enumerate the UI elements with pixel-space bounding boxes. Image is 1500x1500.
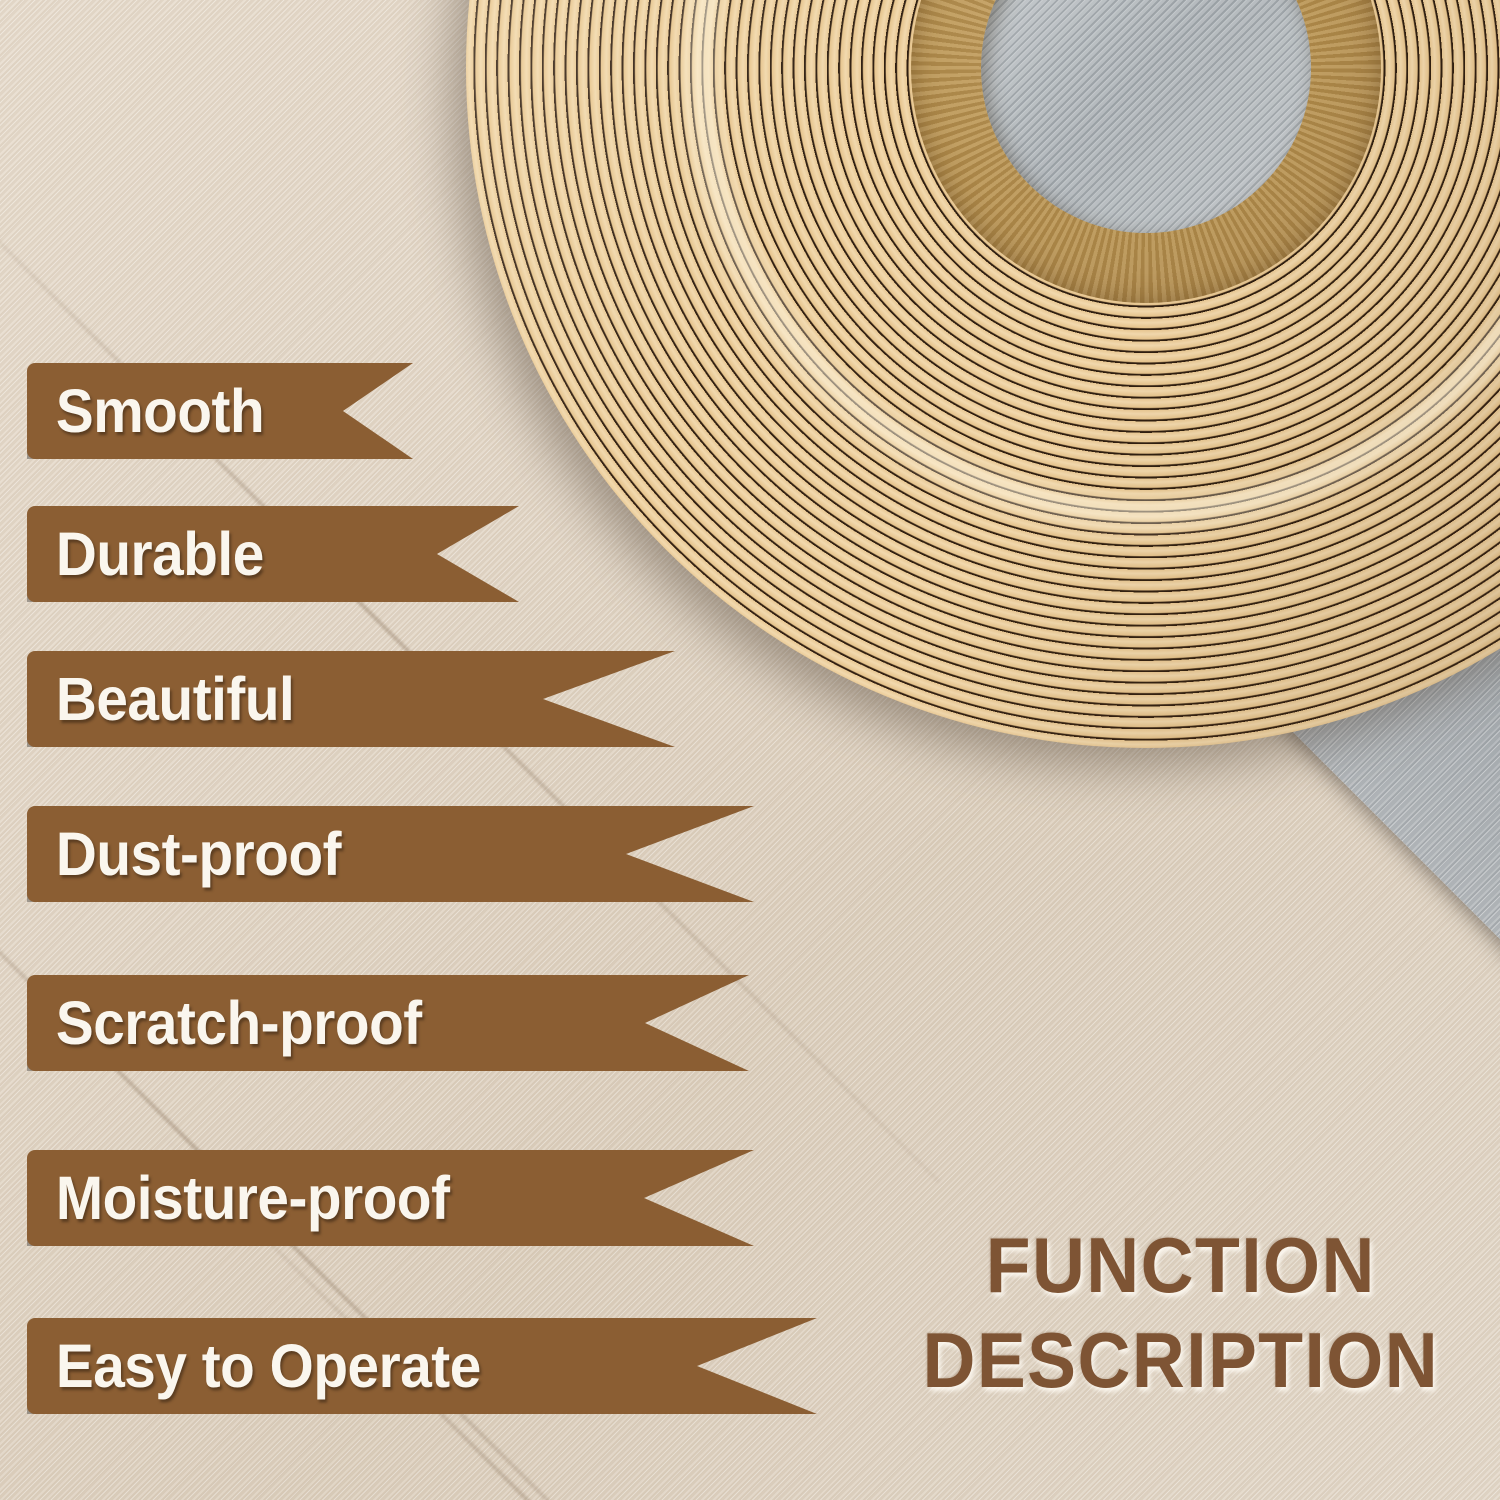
- feature-banner: Moisture-proof: [27, 1150, 754, 1246]
- feature-banner: Smooth: [27, 363, 413, 459]
- feature-banner-label: Moisture-proof: [27, 1168, 450, 1229]
- heading-line-1: FUNCTION: [923, 1218, 1440, 1313]
- feature-banner-list: SmoothDurableBeautifulDust-proofScratch-…: [0, 0, 900, 1500]
- feature-banner-label: Beautiful: [27, 669, 294, 730]
- feature-banner-label: Smooth: [27, 381, 264, 442]
- feature-banner: Beautiful: [27, 651, 675, 747]
- feature-banner: Scratch-proof: [27, 975, 749, 1071]
- heading-line-2: DESCRIPTION: [923, 1313, 1440, 1408]
- feature-banner: Easy to Operate: [27, 1318, 817, 1414]
- feature-banner-label: Durable: [27, 524, 264, 585]
- feature-banner: Dust-proof: [27, 806, 754, 902]
- feature-banner-label: Dust-proof: [27, 824, 341, 885]
- feature-banner-label: Scratch-proof: [27, 993, 422, 1054]
- feature-banner: Durable: [27, 506, 519, 602]
- product-feature-graphic: SmoothDurableBeautifulDust-proofScratch-…: [0, 0, 1500, 1500]
- feature-banner-label: Easy to Operate: [27, 1336, 481, 1397]
- function-description-heading: FUNCTION DESCRIPTION: [906, 1218, 1456, 1408]
